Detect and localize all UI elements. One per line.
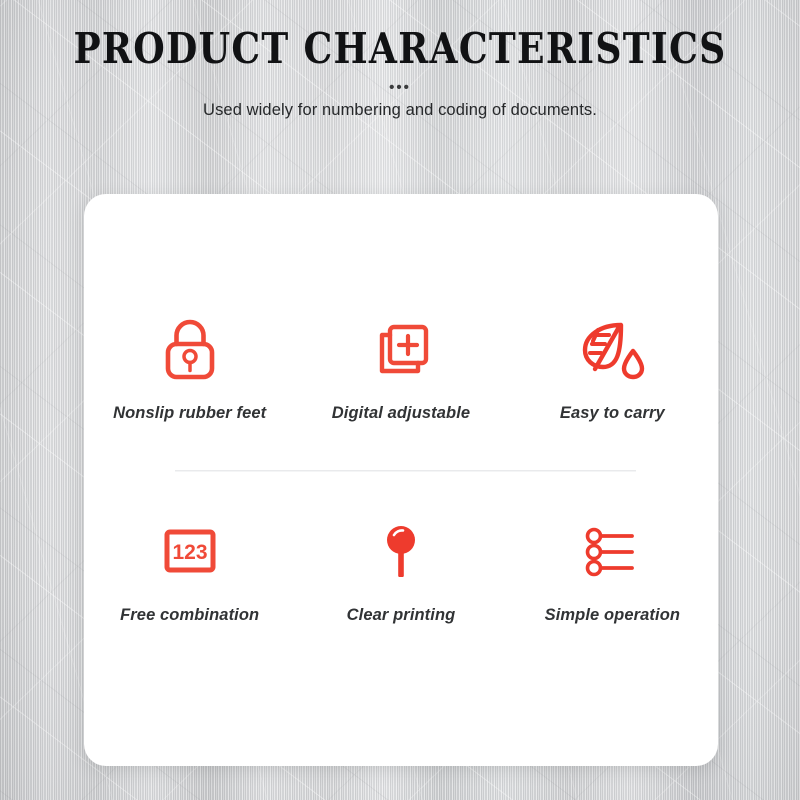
- feature-label: Simple operation: [545, 606, 680, 625]
- leaf-droplet-icon: [576, 317, 648, 383]
- feature-icon-wrap: [157, 312, 223, 388]
- title-dot-separator: •••: [0, 80, 800, 95]
- padlock-icon: [157, 315, 223, 385]
- feature-icon-wrap: [581, 514, 643, 590]
- feature-icon-wrap: [368, 312, 434, 388]
- feature-label: Easy to carry: [560, 404, 665, 423]
- feature-label: Free combination: [120, 606, 259, 625]
- features-grid: Nonslip rubber feet Digi: [84, 194, 718, 766]
- map-pin-icon: [377, 521, 425, 583]
- feature-item-free-combination[interactable]: 123 Free combination: [84, 514, 295, 625]
- feature-item-simple-operation[interactable]: Simple operation: [507, 514, 718, 625]
- page-subtitle: Used widely for numbering and coding of …: [0, 101, 800, 120]
- features-row-bottom: 123 Free combination Clear printing: [84, 468, 718, 766]
- feature-icon-wrap: 123: [157, 514, 223, 590]
- features-card: Nonslip rubber feet Digi: [84, 194, 718, 766]
- feature-item-digital-adjustable[interactable]: Digital adjustable: [295, 312, 506, 423]
- duplicate-plus-icon: [368, 317, 434, 383]
- page-root: PRODUCT CHARACTERISTICS ••• Used widely …: [0, 0, 800, 800]
- number-box-123-icon: 123: [157, 524, 223, 580]
- feature-label: Clear printing: [347, 606, 456, 625]
- bullet-list-icon: [581, 524, 643, 580]
- feature-label: Nonslip rubber feet: [113, 404, 266, 423]
- number-box-label: 123: [172, 541, 207, 564]
- page-header: PRODUCT CHARACTERISTICS ••• Used widely …: [0, 0, 800, 120]
- feature-icon-wrap: [377, 514, 425, 590]
- page-title: PRODUCT CHARACTERISTICS: [56, 0, 744, 72]
- feature-item-easy-to-carry[interactable]: Easy to carry: [507, 312, 718, 423]
- features-row-top: Nonslip rubber feet Digi: [84, 194, 718, 468]
- feature-icon-wrap: [576, 312, 648, 388]
- feature-item-clear-printing[interactable]: Clear printing: [295, 514, 506, 625]
- feature-item-nonslip-rubber-feet[interactable]: Nonslip rubber feet: [84, 312, 295, 423]
- feature-label: Digital adjustable: [332, 404, 470, 423]
